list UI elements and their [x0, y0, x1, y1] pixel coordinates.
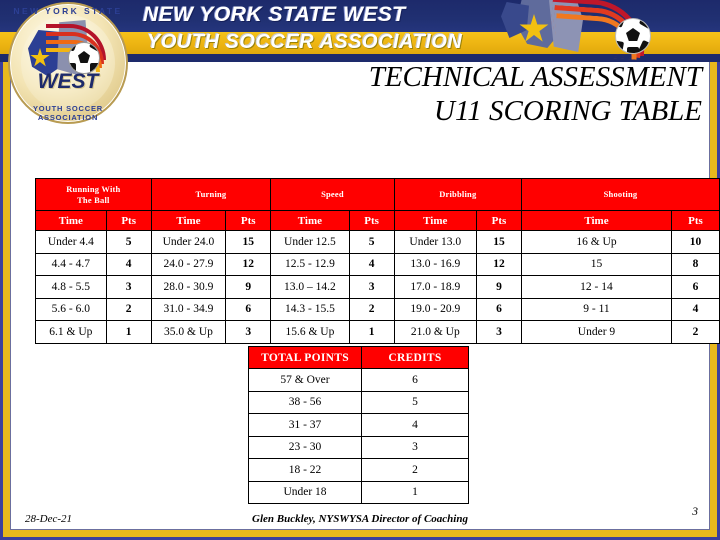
cell-time: 12 - 14: [521, 276, 671, 299]
cell-total-points: 31 - 37: [249, 414, 362, 437]
page-title: TECHNICAL ASSESSMENT U11 SCORING TABLE: [250, 60, 702, 128]
cell-total-points: 18 - 22: [249, 459, 362, 482]
cell-pts: 9: [226, 276, 271, 299]
footer-page-number: 3: [692, 506, 698, 518]
cell-pts: 3: [476, 321, 521, 344]
table-row: 38 - 56 5: [249, 391, 469, 414]
cell-time: Under 12.5: [271, 231, 349, 254]
seal-arc-top-text: NEW YORK STATE: [8, 6, 128, 16]
subheader-time-3: Time: [271, 211, 349, 231]
table-row: 18 - 22 2: [249, 459, 469, 482]
cell-time: 21.0 & Up: [394, 321, 476, 344]
cell-pts: 3: [349, 276, 394, 299]
cell-pts: 4: [672, 298, 720, 321]
cell-pts: 2: [672, 321, 720, 344]
table-row: Under 18 1: [249, 481, 469, 504]
cell-time: Under 9: [521, 321, 671, 344]
cell-time: 14.3 - 15.5: [271, 298, 349, 321]
cell-pts: 6: [226, 298, 271, 321]
cell-pts: 4: [106, 253, 151, 276]
subheader-pts-3: Pts: [349, 211, 394, 231]
cell-time: 35.0 & Up: [151, 321, 226, 344]
cell-pts: 10: [672, 231, 720, 254]
seal-arc-bottom-text: YOUTH SOCCER ASSOCIATION: [8, 104, 128, 122]
cell-pts: 2: [349, 298, 394, 321]
soccer-ball-icon: [615, 18, 651, 54]
group-header-shooting: Shooting: [521, 179, 719, 211]
banner-title-line1: NEW YORK STATE WEST: [143, 3, 406, 27]
cell-time: 5.6 - 6.0: [36, 298, 107, 321]
credits-table: TOTAL POINTS CREDITS 57 & Over 6 38 - 56…: [248, 346, 469, 504]
subheader-time-4: Time: [394, 211, 476, 231]
cell-pts: 1: [106, 321, 151, 344]
banner-title-line2: YOUTH SOCCER ASSOCIATION: [147, 31, 462, 54]
cell-total-points: Under 18: [249, 481, 362, 504]
cell-time: 15.6 & Up: [271, 321, 349, 344]
scoring-table-subheader-row: Time Pts Time Pts Time Pts Time Pts Time…: [36, 211, 720, 231]
cell-pts: 5: [106, 231, 151, 254]
footer-author: Glen Buckley, NYSWYSA Director of Coachi…: [0, 513, 720, 525]
cell-time: 17.0 - 18.9: [394, 276, 476, 299]
table-row: 23 - 30 3: [249, 436, 469, 459]
cell-pts: 12: [226, 253, 271, 276]
group-header-speed: Speed: [271, 179, 394, 211]
cell-time: 13.0 - 16.9: [394, 253, 476, 276]
cell-credits: 6: [362, 369, 469, 392]
table-row: 5.6 - 6.0 2 31.0 - 34.9 6 14.3 - 15.5 2 …: [36, 298, 720, 321]
cell-pts: 9: [476, 276, 521, 299]
group-header-running-with-the-ball: Running With The Ball: [36, 179, 152, 211]
table-row: 31 - 37 4: [249, 414, 469, 437]
page-title-line2: U11 SCORING TABLE: [250, 94, 702, 128]
subheader-pts-4: Pts: [476, 211, 521, 231]
cell-pts: 6: [672, 276, 720, 299]
nyswysa-logo-seal: NEW YORK STATE WEST YOUTH SOCCER ASSOCIA…: [8, 2, 128, 124]
credits-header-total-points: TOTAL POINTS: [249, 347, 362, 369]
group-label-line2: The Ball: [77, 195, 110, 205]
credits-header-credits: CREDITS: [362, 347, 469, 369]
cell-pts: 1: [349, 321, 394, 344]
cell-time: 24.0 - 27.9: [151, 253, 226, 276]
cell-pts: 15: [476, 231, 521, 254]
cell-time: 19.0 - 20.9: [394, 298, 476, 321]
cell-credits: 1: [362, 481, 469, 504]
banner-artwork: [495, 0, 655, 62]
cell-time: 15: [521, 253, 671, 276]
cell-credits: 5: [362, 391, 469, 414]
cell-time: Under 13.0: [394, 231, 476, 254]
page-title-line1: TECHNICAL ASSESSMENT: [250, 60, 702, 94]
cell-credits: 4: [362, 414, 469, 437]
cell-time: 13.0 – 14.2: [271, 276, 349, 299]
credits-table-header-row: TOTAL POINTS CREDITS: [249, 347, 469, 369]
cell-total-points: 38 - 56: [249, 391, 362, 414]
cell-pts: 6: [476, 298, 521, 321]
subheader-pts-1: Pts: [106, 211, 151, 231]
subheader-pts-2: Pts: [226, 211, 271, 231]
group-header-turning: Turning: [151, 179, 271, 211]
subheader-time-5: Time: [521, 211, 671, 231]
cell-time: 12.5 - 12.9: [271, 253, 349, 276]
cell-pts: 5: [349, 231, 394, 254]
table-row: 57 & Over 6: [249, 369, 469, 392]
cell-time: Under 24.0: [151, 231, 226, 254]
cell-pts: 8: [672, 253, 720, 276]
subheader-pts-5: Pts: [672, 211, 720, 231]
subheader-time-2: Time: [151, 211, 226, 231]
table-row: 4.8 - 5.5 3 28.0 - 30.9 9 13.0 – 14.2 3 …: [36, 276, 720, 299]
cell-pts: 15: [226, 231, 271, 254]
table-row: Under 4.4 5 Under 24.0 15 Under 12.5 5 U…: [36, 231, 720, 254]
cell-pts: 12: [476, 253, 521, 276]
cell-time: 4.4 - 4.7: [36, 253, 107, 276]
cell-pts: 3: [226, 321, 271, 344]
cell-pts: 3: [106, 276, 151, 299]
cell-credits: 3: [362, 436, 469, 459]
cell-total-points: 57 & Over: [249, 369, 362, 392]
cell-time: 6.1 & Up: [36, 321, 107, 344]
cell-time: Under 4.4: [36, 231, 107, 254]
cell-time: 9 - 11: [521, 298, 671, 321]
table-row: 6.1 & Up 1 35.0 & Up 3 15.6 & Up 1 21.0 …: [36, 321, 720, 344]
group-header-dribbling: Dribbling: [394, 179, 521, 211]
cell-time: 4.8 - 5.5: [36, 276, 107, 299]
cell-pts: 2: [106, 298, 151, 321]
table-row: 4.4 - 4.7 4 24.0 - 27.9 12 12.5 - 12.9 4…: [36, 253, 720, 276]
cell-time: 16 & Up: [521, 231, 671, 254]
group-label-line1: Running With: [66, 184, 120, 194]
cell-time: 31.0 - 34.9: [151, 298, 226, 321]
cell-credits: 2: [362, 459, 469, 482]
scoring-table-group-header-row: Running With The Ball Turning Speed Drib…: [36, 179, 720, 211]
scoring-table: Running With The Ball Turning Speed Drib…: [35, 178, 720, 344]
seal-center-text: WEST: [8, 70, 128, 94]
slide-root: NEW YORK STATE WEST YOUTH SOCCER ASSOCIA…: [0, 0, 720, 540]
cell-total-points: 23 - 30: [249, 436, 362, 459]
cell-pts: 4: [349, 253, 394, 276]
subheader-time-1: Time: [36, 211, 107, 231]
cell-time: 28.0 - 30.9: [151, 276, 226, 299]
